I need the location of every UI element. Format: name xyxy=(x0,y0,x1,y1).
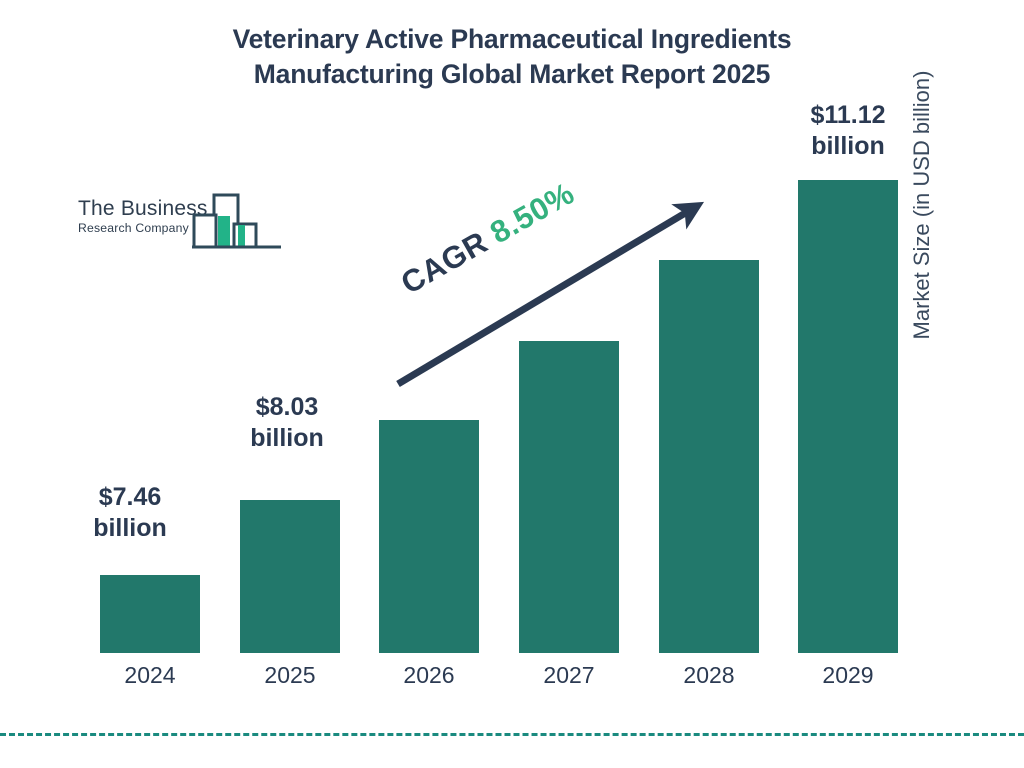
cagr-value: 8.50% xyxy=(484,175,580,250)
x-tick-2025: 2025 xyxy=(240,662,340,689)
x-tick-2028: 2028 xyxy=(659,662,759,689)
bar-value-2025: $8.03 billion xyxy=(207,392,367,453)
bar-2029 xyxy=(798,180,898,653)
x-tick-2027: 2027 xyxy=(519,662,619,689)
bar-2024 xyxy=(100,575,200,653)
bar-2026 xyxy=(379,420,479,653)
bar-value-2024: $7.46 billion xyxy=(50,482,210,543)
x-tick-2024: 2024 xyxy=(100,662,200,689)
bar-2025 xyxy=(240,500,340,653)
y-axis-title: Market Size (in USD billion) xyxy=(902,40,942,370)
x-tick-2026: 2026 xyxy=(379,662,479,689)
x-tick-2029: 2029 xyxy=(798,662,898,689)
cagr-label: CAGR 8.50% xyxy=(395,175,581,301)
bar-2027 xyxy=(519,341,619,653)
footer-divider xyxy=(0,733,1024,736)
cagr-word: CAGR xyxy=(395,224,493,300)
bar-2028 xyxy=(659,260,759,653)
bar-chart: $7.46 billion $8.03 billion $11.12 billi… xyxy=(0,0,1024,768)
